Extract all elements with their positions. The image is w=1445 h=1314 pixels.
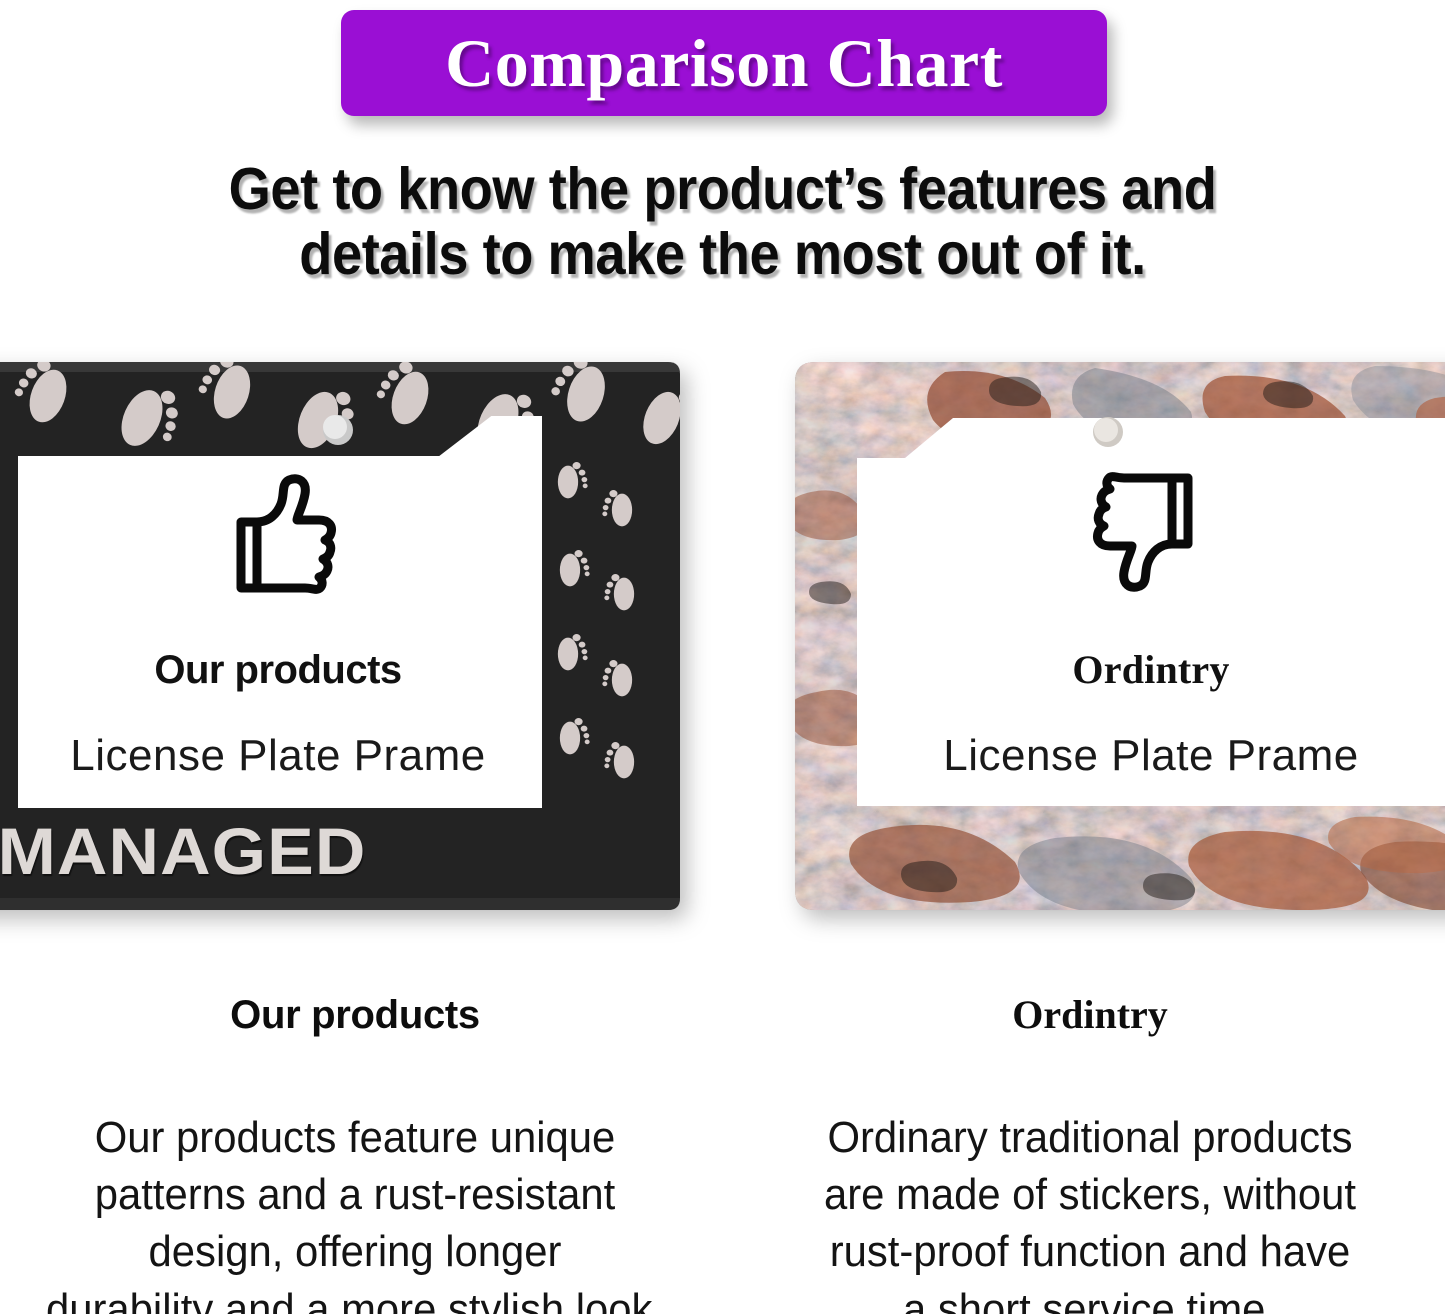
ordinary-product-frame-content: Ordintry License Plate Prame <box>857 472 1445 778</box>
ordinary-product-frame: Ordintry License Plate Prame <box>795 362 1445 910</box>
page-title: Comparison Chart <box>445 29 1003 97</box>
desc-line: patterns and a rust-resistant <box>27 1166 683 1223</box>
our-product-description-heading: Our products <box>10 995 700 1035</box>
desc-line: Ordinary traditional products <box>762 1109 1418 1166</box>
desc-line: design, offering longer <box>27 1223 683 1280</box>
our-product-frame-subtitle: License Plate Prame <box>70 734 486 778</box>
desc-line: durability and a more stylish look. <box>27 1281 683 1314</box>
ordinary-product-description-body: Ordinary traditional products are made o… <box>762 1109 1418 1314</box>
thumbs-down-icon <box>1092 472 1210 594</box>
desc-line: a short service time. <box>762 1281 1418 1314</box>
ordinary-product-description: Ordintry Ordinary traditional products a… <box>745 995 1435 1314</box>
comparison-chart-page: Comparison Chart Get to know the product… <box>0 0 1445 1314</box>
our-product-description-body: Our products feature unique patterns and… <box>27 1109 683 1314</box>
title-banner: Comparison Chart <box>341 10 1107 116</box>
plate-wordmark: EFMANAGED <box>0 814 650 888</box>
plate-wordmark-suffix: MANAGED <box>0 814 366 888</box>
desc-line: rust-proof function and have <box>762 1223 1418 1280</box>
plate-wordmark-text: EFMANAGED <box>0 818 366 884</box>
ordinary-product-frame-heading: Ordintry <box>1072 650 1229 690</box>
page-subtitle: Get to know the product’s features and d… <box>58 160 1387 284</box>
our-product-description: Our products Our products feature unique… <box>10 995 700 1314</box>
our-product-frame: Our products License Plate Prame EFMANAG… <box>0 362 680 910</box>
subtitle-line-2: details to make the most out of it. <box>58 225 1387 284</box>
ordinary-product-description-heading: Ordintry <box>745 995 1435 1035</box>
desc-line: Our products feature unique <box>27 1109 683 1166</box>
our-product-frame-content: Our products License Plate Prame <box>28 472 528 778</box>
our-product-frame-heading: Our products <box>154 650 401 690</box>
subtitle-line-1: Get to know the product’s features and <box>58 160 1387 219</box>
ordinary-product-frame-subtitle: License Plate Prame <box>943 734 1359 778</box>
desc-line: are made of stickers, without <box>762 1166 1418 1223</box>
thumbs-up-icon <box>219 472 337 594</box>
